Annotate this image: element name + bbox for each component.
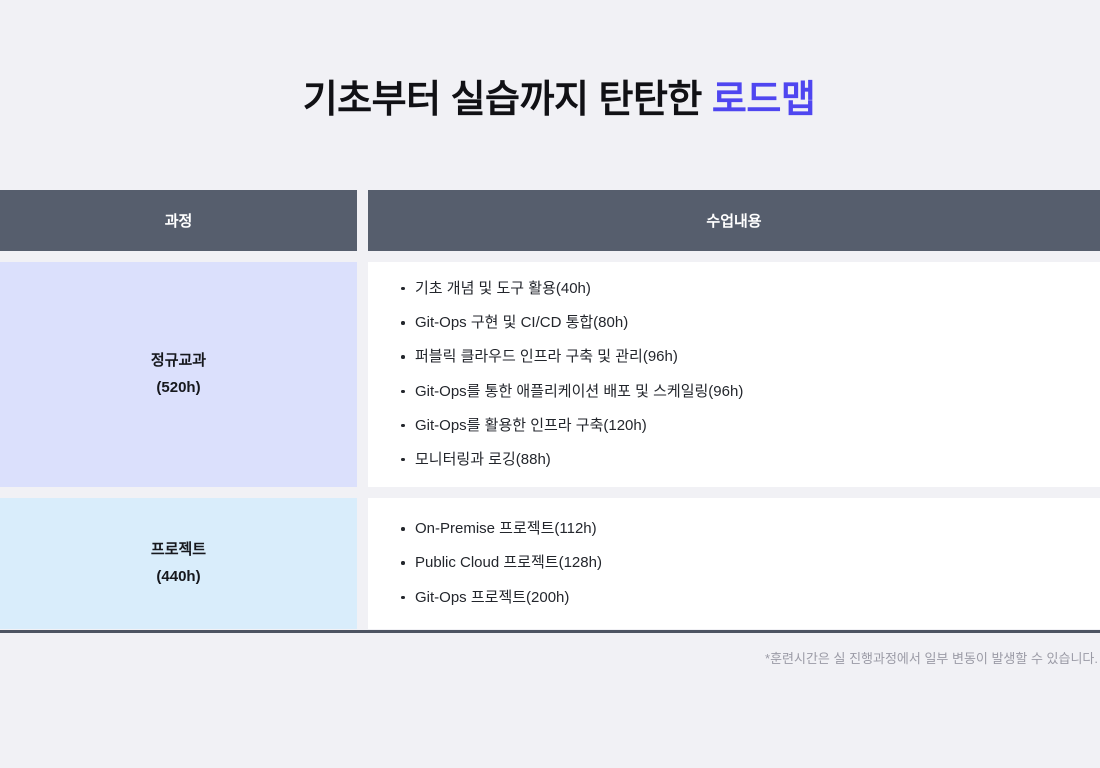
column-divider	[357, 262, 368, 487]
course-name: 프로젝트	[151, 537, 206, 563]
page-title-container: 기초부터 실습까지 탄탄한 로드맵	[0, 0, 1100, 190]
course-content-cell-project: On-Premise 프로젝트(112h) Public Cloud 프로젝트(…	[368, 498, 1100, 629]
row-divider	[0, 487, 1100, 498]
column-divider	[357, 190, 368, 251]
course-label-inner: 프로젝트 (440h)	[0, 498, 357, 629]
table-header-row: 과정 수업내용	[0, 190, 1100, 251]
table-row: 프로젝트 (440h) On-Premise 프로젝트(112h) Public…	[0, 498, 1100, 629]
list-item: Git-Ops 프로젝트(200h)	[398, 581, 1100, 615]
list-item: 모니터링과 로깅(88h)	[398, 443, 1100, 477]
course-content-inner: On-Premise 프로젝트(112h) Public Cloud 프로젝트(…	[368, 498, 1100, 629]
table-header-content: 수업내용	[368, 190, 1100, 251]
course-content-cell-regular: 기초 개념 및 도구 활용(40h) Git-Ops 구현 및 CI/CD 통합…	[368, 262, 1100, 487]
list-item: Git-Ops를 통한 애플리케이션 배포 및 스케일링(96h)	[398, 375, 1100, 409]
course-item-list: On-Premise 프로젝트(112h) Public Cloud 프로젝트(…	[398, 512, 1100, 615]
course-hours: (440h)	[156, 564, 200, 590]
course-label-cell-project: 프로젝트 (440h)	[0, 498, 357, 629]
page-title-lead: 기초부터 실습까지 탄탄한	[303, 79, 712, 121]
course-item-list: 기초 개념 및 도구 활용(40h) Git-Ops 구현 및 CI/CD 통합…	[398, 272, 1100, 477]
column-divider	[357, 498, 368, 629]
course-hours: (520h)	[156, 375, 200, 401]
row-divider	[0, 251, 1100, 262]
page-title: 기초부터 실습까지 탄탄한 로드맵	[285, 68, 816, 123]
table-row: 정규교과 (520h) 기초 개념 및 도구 활용(40h) Git-Ops 구…	[0, 262, 1100, 487]
list-item: On-Premise 프로젝트(112h)	[398, 512, 1100, 546]
course-name: 정규교과	[151, 348, 206, 374]
curriculum-table: 과정 수업내용 정규교과 (520h) 기초 개념 및 도구 활용(40h) G…	[0, 190, 1100, 629]
course-label-cell-regular: 정규교과 (520h)	[0, 262, 357, 487]
page-title-accent: 로드맵	[712, 79, 815, 121]
list-item: Git-Ops 구현 및 CI/CD 통합(80h)	[398, 306, 1100, 340]
list-item: 퍼블릭 클라우드 인프라 구축 및 관리(96h)	[398, 340, 1100, 374]
list-item: Git-Ops를 활용한 인프라 구축(120h)	[398, 409, 1100, 443]
list-item: Public Cloud 프로젝트(128h)	[398, 546, 1100, 580]
list-item: 기초 개념 및 도구 활용(40h)	[398, 272, 1100, 306]
table-header-course: 과정	[0, 190, 357, 251]
table-bottom-rule	[0, 630, 1100, 633]
course-label-inner: 정규교과 (520h)	[0, 262, 357, 487]
course-content-inner: 기초 개념 및 도구 활용(40h) Git-Ops 구현 및 CI/CD 통합…	[368, 262, 1100, 487]
footnote: *훈련시간은 실 진행과정에서 일부 변동이 발생할 수 있습니다.	[0, 648, 1100, 667]
